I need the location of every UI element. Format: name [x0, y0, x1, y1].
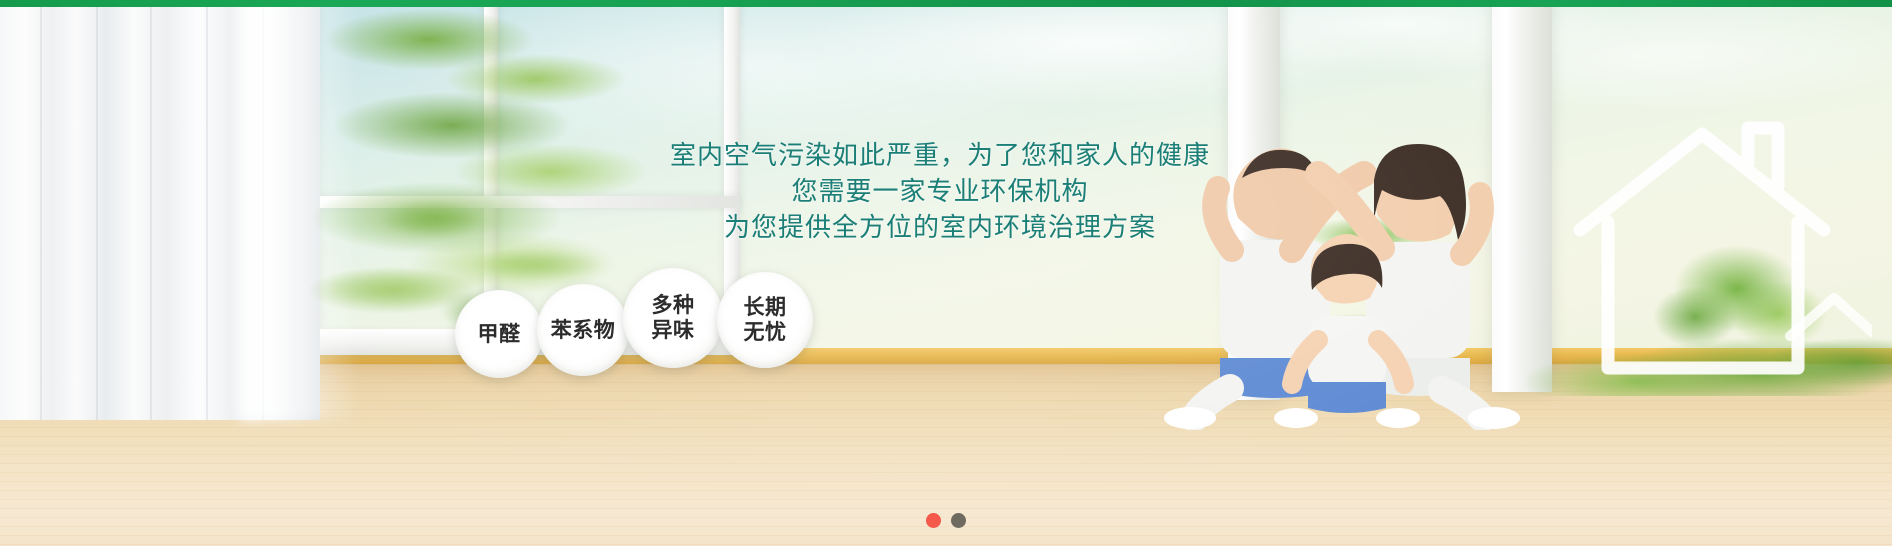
badge-line: 多种 — [652, 293, 695, 318]
badge-line: 无忧 — [744, 320, 787, 345]
badge-line: 异味 — [652, 318, 695, 343]
badge-line: 苯系物 — [551, 318, 616, 343]
badge-line: 甲醛 — [478, 322, 521, 347]
curtain — [0, 0, 320, 420]
carousel-dot-2[interactable] — [951, 513, 966, 528]
hero-banner: 室内空气污染如此严重，为了您和家人的健康 您需要一家专业环保机构 为您提供全方位… — [0, 0, 1892, 546]
badge-long-term[interactable]: 长期 无忧 — [717, 272, 813, 368]
badge-benzene[interactable]: 苯系物 — [537, 284, 629, 376]
carousel-pagination — [0, 513, 1892, 528]
badge-line: 长期 — [744, 295, 787, 320]
family-photo — [1142, 100, 1562, 430]
top-green-bar — [0, 0, 1892, 7]
feature-badges: 甲醛 苯系物 多种 异味 长期 无忧 — [455, 268, 807, 378]
badge-formaldehyde[interactable]: 甲醛 — [455, 290, 543, 378]
carousel-dot-1[interactable] — [926, 513, 941, 528]
badge-odors[interactable]: 多种 异味 — [623, 268, 723, 368]
house-outline-icon — [1552, 110, 1872, 400]
